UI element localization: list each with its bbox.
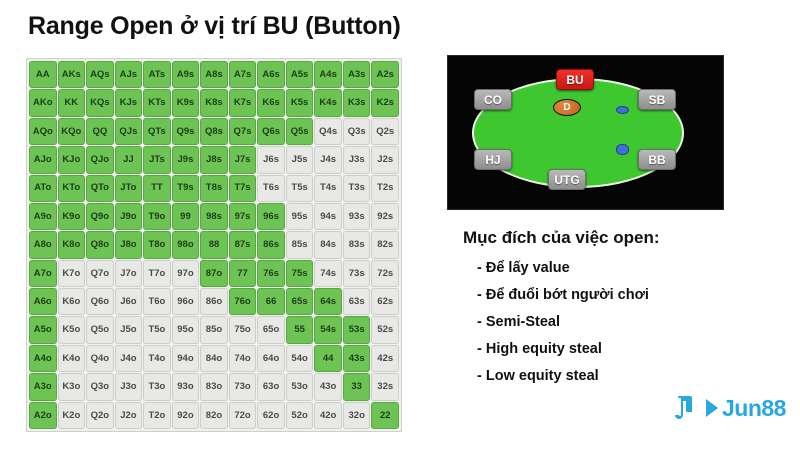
hand-cell[interactable]: TT [143,175,171,202]
hand-cell[interactable]: Q7s [229,118,257,145]
hand-cell[interactable]: 96s [257,203,285,230]
hand-cell[interactable]: KQs [86,89,114,116]
hand-cell[interactable]: T5s [286,175,314,202]
hand-cell[interactable]: A9o [29,203,57,230]
hand-cell[interactable]: 32s [371,373,399,400]
hand-cell[interactable]: J4o [115,345,143,372]
purpose-heading: Mục đích của việc open: [463,228,783,248]
hand-cell[interactable]: AQo [29,118,57,145]
hand-cell[interactable]: 86o [200,288,228,315]
seat-sb: SB [638,89,676,110]
hand-cell[interactable]: 93o [172,373,200,400]
hand-cell[interactable]: T6s [257,175,285,202]
hand-cell[interactable]: Q6o [86,288,114,315]
hand-cell[interactable]: 72o [229,402,257,429]
hand-cell[interactable]: Q5s [286,118,314,145]
hand-cell[interactable]: AJo [29,146,57,173]
purpose-block: Mục đích của việc open: - Để lấy value -… [463,228,783,395]
hand-cell[interactable]: 97o [172,260,200,287]
hand-cell[interactable]: Q4o [86,345,114,372]
hand-cell[interactable]: KTs [143,89,171,116]
hand-cell[interactable]: 33 [343,373,371,400]
hand-cell[interactable]: AA [29,61,57,88]
hand-cell[interactable]: K6o [58,288,86,315]
hand-cell[interactable]: J3o [115,373,143,400]
seat-co: CO [474,89,512,110]
hand-cell[interactable]: 99 [172,203,200,230]
hand-cell[interactable]: A8o [29,231,57,258]
hand-cell[interactable]: T4o [143,345,171,372]
hand-cell[interactable]: K2o [58,402,86,429]
hand-cell[interactable]: K6s [257,89,285,116]
hand-cell[interactable]: A3s [343,61,371,88]
seat-utg-label: UTG [554,173,579,187]
dealer-button-icon: D [553,99,581,116]
hand-cell[interactable]: 87s [229,231,257,258]
hand-cell[interactable]: K4s [314,89,342,116]
hand-cell[interactable]: K5s [286,89,314,116]
hand-cell[interactable]: T8s [200,175,228,202]
brand-logo-text: Jun88 [722,395,786,422]
seat-bu-label: BU [566,73,583,87]
hand-cell[interactable]: 82s [371,231,399,258]
hand-cell[interactable]: J6s [257,146,285,173]
range-chart-panel: AAAKsAQsAJsATsA9sA8sA7sA6sA5sA4sA3sA2sAK… [26,58,402,432]
hand-cell[interactable]: 94s [314,203,342,230]
hand-cell[interactable]: QTo [86,175,114,202]
hand-cell[interactable]: 82o [200,402,228,429]
hand-cell[interactable]: J9s [172,146,200,173]
hand-cell[interactable]: 95s [286,203,314,230]
purpose-item: - Low equity steal [477,368,783,384]
seat-bu: BU [556,69,594,90]
hand-cell[interactable]: KTo [58,175,86,202]
hand-cell[interactable]: J2o [115,402,143,429]
hand-cell[interactable]: 93s [343,203,371,230]
hand-cell[interactable]: 73s [343,260,371,287]
hand-cell[interactable]: T8o [143,231,171,258]
hand-cell[interactable]: 83o [200,373,228,400]
hand-cell[interactable]: Q4s [314,118,342,145]
hand-cell[interactable]: 42o [314,402,342,429]
hand-cell[interactable]: Q2o [86,402,114,429]
hand-cell[interactable]: J7o [115,260,143,287]
hand-cell[interactable]: 85o [200,316,228,343]
hand-cell[interactable]: A6s [257,61,285,88]
hand-cell[interactable]: AQs [86,61,114,88]
seat-hj: HJ [474,149,512,170]
hand-cell[interactable]: A5o [29,316,57,343]
hand-cell[interactable]: 43o [314,373,342,400]
hand-cell[interactable]: Q9o [86,203,114,230]
hand-cell[interactable]: T6o [143,288,171,315]
hand-cell[interactable]: AKo [29,89,57,116]
hand-cell[interactable]: 95o [172,316,200,343]
hand-cell[interactable]: 63s [343,288,371,315]
purpose-item: - Để lấy value [477,260,783,276]
hand-cell[interactable]: 52o [286,402,314,429]
hand-cell[interactable]: A9s [172,61,200,88]
hand-cell[interactable]: A3o [29,373,57,400]
hand-cell[interactable]: 77 [229,260,257,287]
hand-cell[interactable]: K3s [343,89,371,116]
hand-cell[interactable]: 66 [257,288,285,315]
hand-cell[interactable]: Q3o [86,373,114,400]
hand-cell[interactable]: J3s [343,146,371,173]
hand-cell[interactable]: Q6s [257,118,285,145]
hand-cell[interactable]: A8s [200,61,228,88]
hand-cell[interactable]: T9s [172,175,200,202]
hand-cell[interactable]: 84o [200,345,228,372]
hand-cell[interactable]: 97s [229,203,257,230]
hand-cell[interactable]: J7s [229,146,257,173]
hand-cell[interactable]: A7o [29,260,57,287]
hand-cell[interactable]: AJs [115,61,143,88]
hand-cell[interactable]: A2o [29,402,57,429]
hand-cell[interactable]: KQo [58,118,86,145]
hand-cell[interactable]: JJ [115,146,143,173]
hand-cell[interactable]: 75s [286,260,314,287]
hand-cell[interactable]: 53s [343,316,371,343]
hand-cell[interactable]: 42s [371,345,399,372]
hand-cell[interactable]: 76s [257,260,285,287]
hand-cell[interactable]: AKs [58,61,86,88]
hand-cell[interactable]: A4s [314,61,342,88]
hand-cell[interactable]: Q3s [343,118,371,145]
seat-bb: BB [638,149,676,170]
hand-cell[interactable]: 22 [371,402,399,429]
hand-cell[interactable]: 74o [229,345,257,372]
seat-sb-label: SB [649,93,666,107]
hand-cell[interactable]: T3s [343,175,371,202]
seat-bb-label: BB [648,153,665,167]
hand-cell[interactable]: QJo [86,146,114,173]
purpose-item: - Semi-Steal [477,314,783,330]
hand-cell[interactable]: 94o [172,345,200,372]
hand-cell[interactable]: J4s [314,146,342,173]
jun88-elephant-icon [672,393,702,423]
hand-cell[interactable]: K9s [172,89,200,116]
hand-cell[interactable]: 76o [229,288,257,315]
hand-cell[interactable]: T2o [143,402,171,429]
seat-co-label: CO [484,93,502,107]
hand-cell[interactable]: J5s [286,146,314,173]
hand-cell[interactable]: T2s [371,175,399,202]
hand-cell[interactable]: 65s [286,288,314,315]
hand-cell[interactable]: KJo [58,146,86,173]
hand-cell[interactable]: 85s [286,231,314,258]
hand-cell[interactable]: K9o [58,203,86,230]
hand-cell[interactable]: 86s [257,231,285,258]
hand-cell[interactable]: J9o [115,203,143,230]
hand-cell[interactable]: K4o [58,345,86,372]
hand-cell[interactable]: 64o [257,345,285,372]
hand-cell[interactable]: Q9s [172,118,200,145]
hand-cell[interactable]: 44 [314,345,342,372]
hand-cell[interactable]: Q7o [86,260,114,287]
hand-cell[interactable]: JTs [143,146,171,173]
hand-cell[interactable]: 52s [371,316,399,343]
hand-cell[interactable]: 55 [286,316,314,343]
hand-cell[interactable]: A6o [29,288,57,315]
play-triangle-icon [704,397,720,419]
brand-logo: Jun88 [672,393,786,423]
hand-cell[interactable]: 43s [343,345,371,372]
hand-cell[interactable]: 73o [229,373,257,400]
hand-cell[interactable]: T3o [143,373,171,400]
hand-cell[interactable]: T4s [314,175,342,202]
hand-cell[interactable]: K8o [58,231,86,258]
hand-cell[interactable]: Q8o [86,231,114,258]
hand-cell[interactable]: 98o [172,231,200,258]
small-blind-chip-icon [616,106,629,114]
hand-cell[interactable]: KK [58,89,86,116]
hand-cell[interactable]: J2s [371,146,399,173]
hand-cell[interactable]: Q8s [200,118,228,145]
hand-cell[interactable]: 88 [200,231,228,258]
hand-cell[interactable]: 98s [200,203,228,230]
hand-cell[interactable]: T9o [143,203,171,230]
range-grid: AAAKsAQsAJsATsA9sA8sA7sA6sA5sA4sA3sA2sAK… [29,61,399,429]
hand-cell[interactable]: 54o [286,345,314,372]
hand-cell[interactable]: 87o [200,260,228,287]
hand-cell[interactable]: 62s [371,288,399,315]
page-title: Range Open ở vị trí BU (Button) [28,12,401,41]
hand-cell[interactable]: 62o [257,402,285,429]
hand-cell[interactable]: QQ [86,118,114,145]
hand-cell[interactable]: QJs [115,118,143,145]
hand-cell[interactable]: ATo [29,175,57,202]
hand-cell[interactable]: T5o [143,316,171,343]
purpose-item: - High equity steal [477,341,783,357]
hand-cell[interactable]: 96o [172,288,200,315]
hand-cell[interactable]: K8s [200,89,228,116]
hand-cell[interactable]: A7s [229,61,257,88]
hand-cell[interactable]: A4o [29,345,57,372]
hand-cell[interactable]: Q2s [371,118,399,145]
hand-cell[interactable]: J6o [115,288,143,315]
hand-cell[interactable]: A5s [286,61,314,88]
hand-cell[interactable]: 53o [286,373,314,400]
hand-cell[interactable]: 83s [343,231,371,258]
hand-cell[interactable]: 84s [314,231,342,258]
hand-cell[interactable]: T7o [143,260,171,287]
hand-cell[interactable]: J8s [200,146,228,173]
hand-cell[interactable]: K3o [58,373,86,400]
hand-cell[interactable]: KJs [115,89,143,116]
hand-cell[interactable]: 92s [371,203,399,230]
poker-table-diagram: BU CO SB HJ BB UTG D [447,55,724,210]
hand-cell[interactable]: K2s [371,89,399,116]
hand-cell[interactable]: A2s [371,61,399,88]
hand-cell[interactable]: Q5o [86,316,114,343]
hand-cell[interactable]: ATs [143,61,171,88]
hand-cell[interactable]: K7s [229,89,257,116]
hand-cell[interactable]: 65o [257,316,285,343]
seat-utg: UTG [548,169,586,190]
hand-cell[interactable]: 74s [314,260,342,287]
hand-cell[interactable]: J5o [115,316,143,343]
hand-cell[interactable]: 54s [314,316,342,343]
hand-cell[interactable]: 75o [229,316,257,343]
hand-cell[interactable]: 64s [314,288,342,315]
hand-cell[interactable]: 92o [172,402,200,429]
hand-cell[interactable]: 63o [257,373,285,400]
hand-cell[interactable]: K7o [58,260,86,287]
hand-cell[interactable]: QTs [143,118,171,145]
hand-cell[interactable]: 32o [343,402,371,429]
hand-cell[interactable]: JTo [115,175,143,202]
hand-cell[interactable]: J8o [115,231,143,258]
seat-hj-label: HJ [485,153,500,167]
hand-cell[interactable]: K5o [58,316,86,343]
purpose-item: - Để đuổi bớt người chơi [477,287,783,303]
hand-cell[interactable]: 72s [371,260,399,287]
hand-cell[interactable]: T7s [229,175,257,202]
big-blind-chip-icon [616,144,629,155]
